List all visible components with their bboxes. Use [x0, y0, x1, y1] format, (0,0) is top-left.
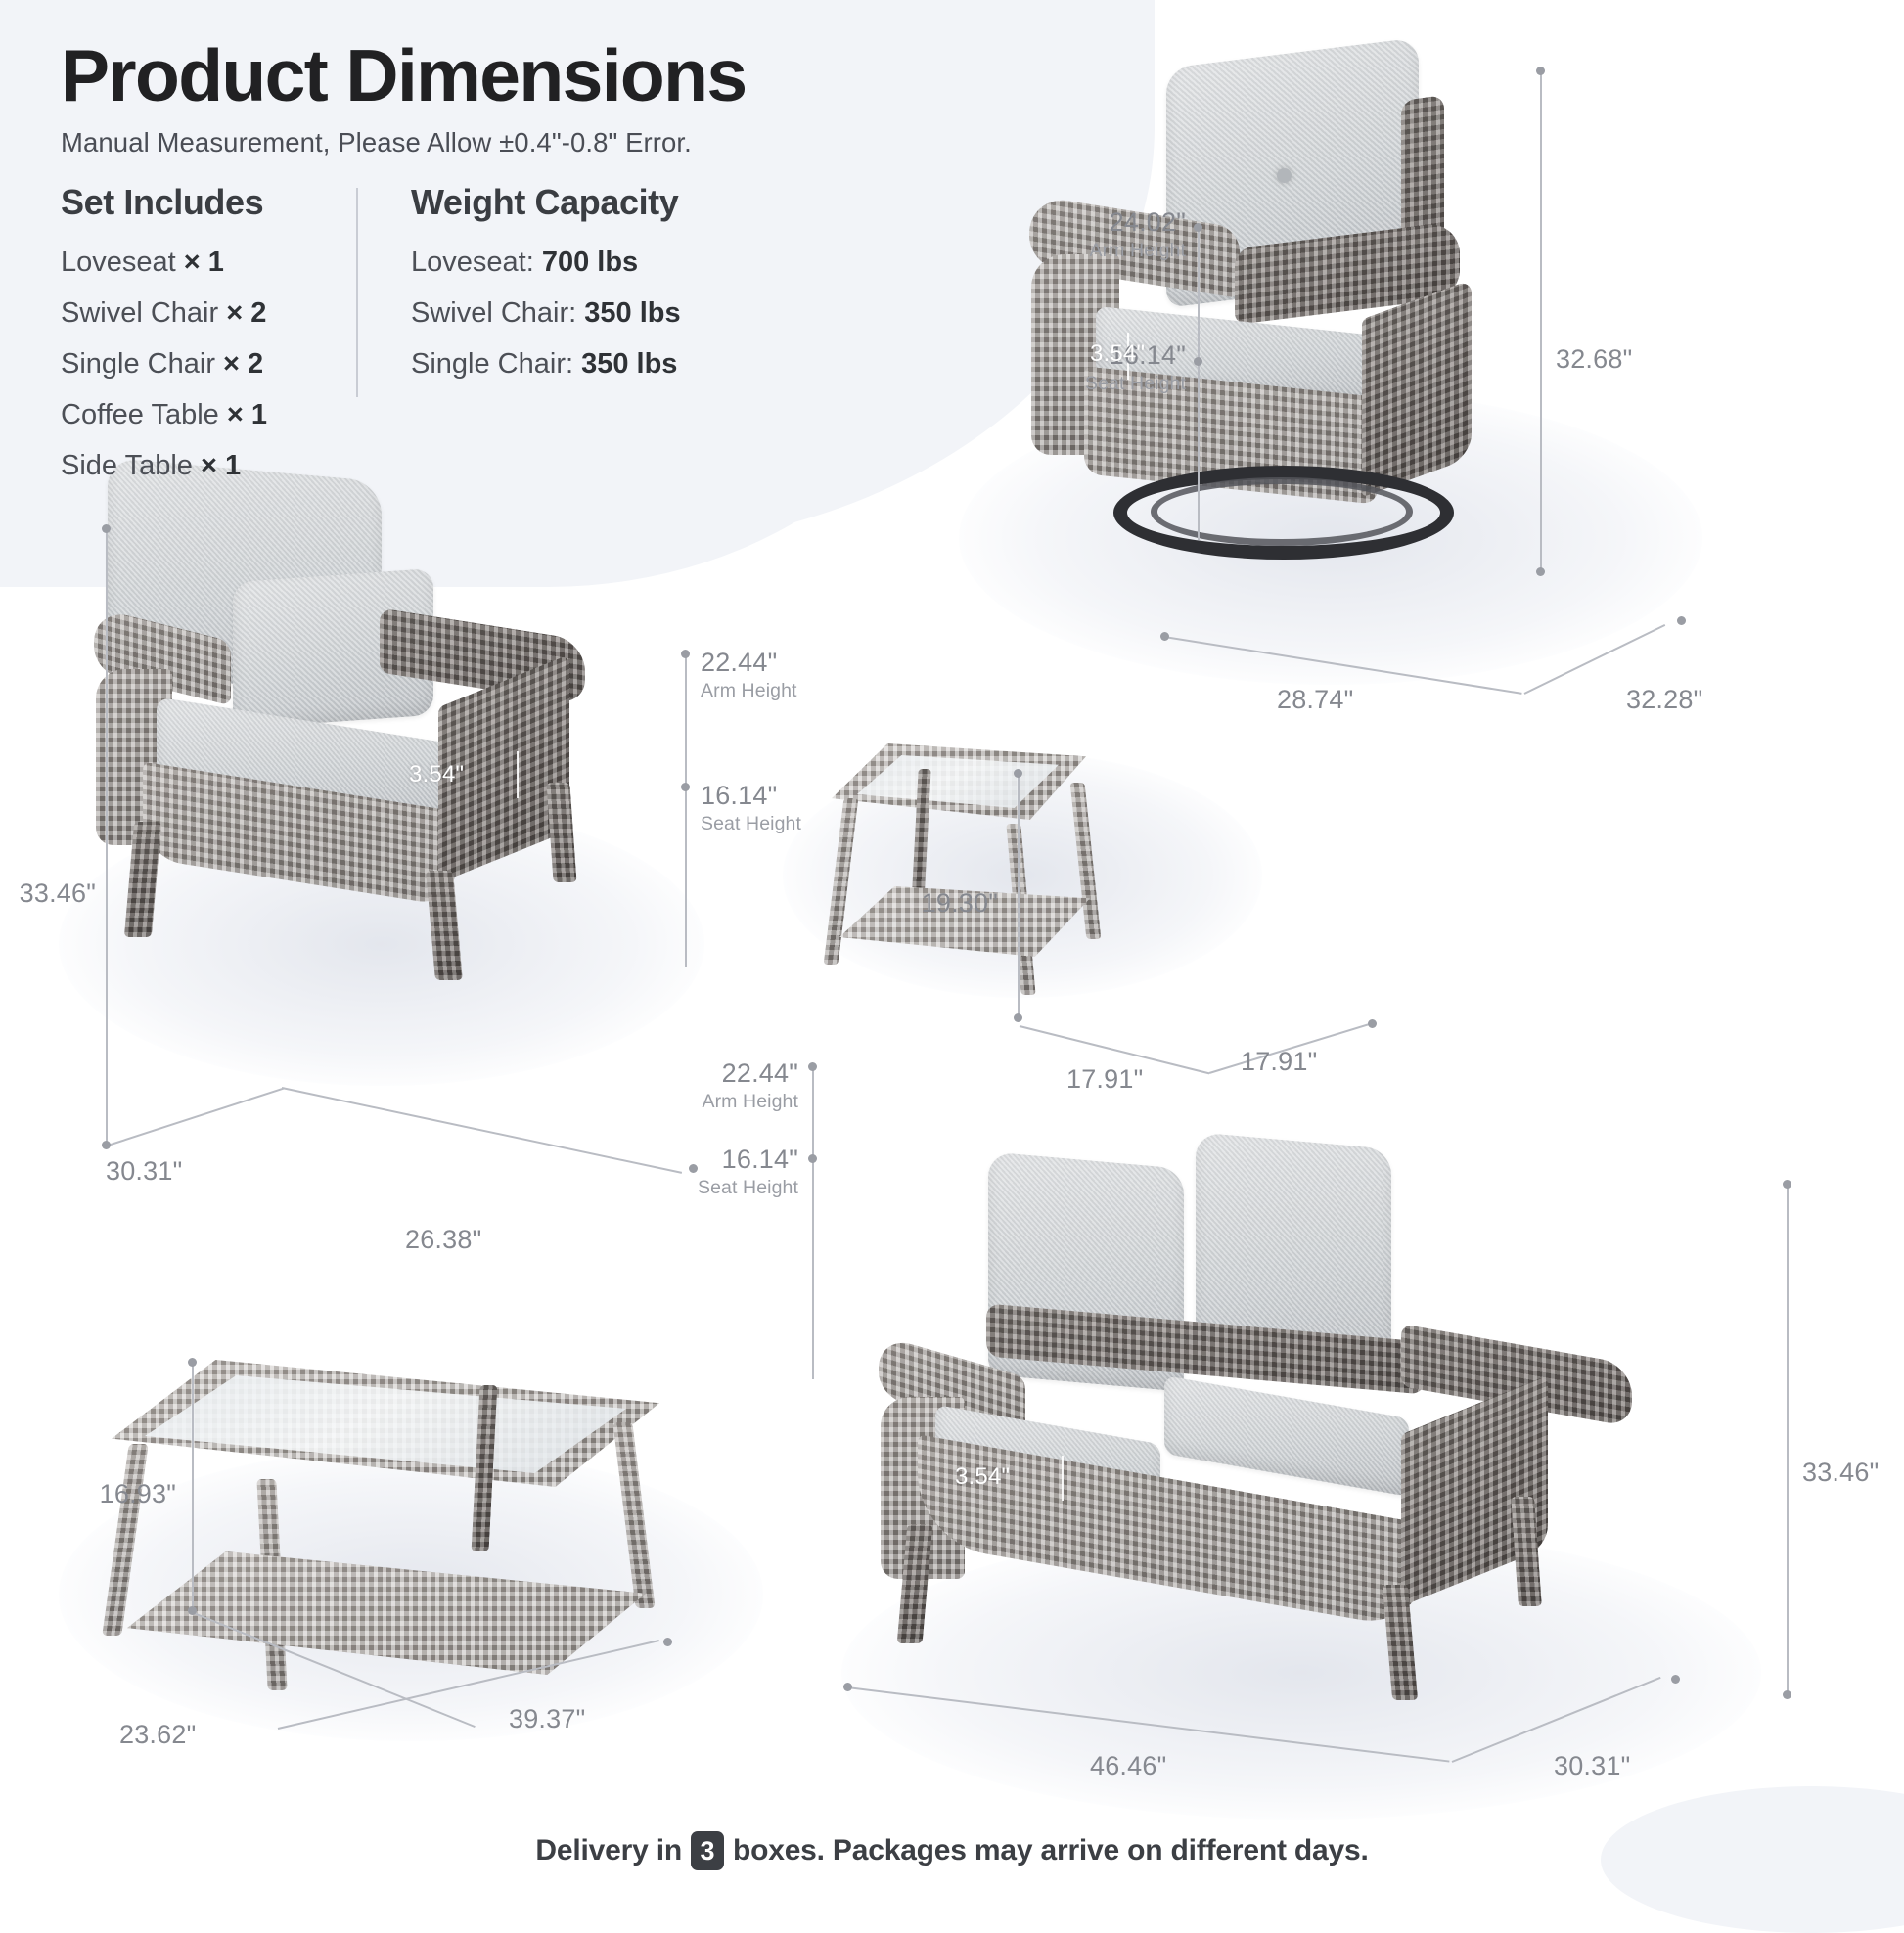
- loveseat-illustration: [978, 1135, 1702, 1741]
- box-count-badge: 3: [691, 1831, 724, 1870]
- swivel-chair-height-dot-bottom: [1536, 567, 1545, 576]
- coffee-table-leg-left: [102, 1444, 149, 1636]
- swivel-chair-depth-label: 32.28": [1626, 685, 1702, 715]
- loveseat-arm-height-label: 22.44" Arm Height: [587, 1058, 798, 1113]
- loveseat-arm-height-value: 22.44": [722, 1058, 798, 1088]
- coffee-table-height-line: [192, 1362, 194, 1610]
- swivel-chair-base-ring-inner: [1151, 477, 1413, 546]
- coffee-table-lower-shelf: [127, 1551, 646, 1675]
- loveseat-depth-dot: [1671, 1675, 1680, 1684]
- swivel-chair-arm-height-value: 24.02": [1110, 207, 1186, 237]
- side-table-depth-dot: [1368, 1019, 1377, 1028]
- swivel-chair-seat-height-sublabel: Seat Height: [861, 373, 1186, 395]
- weight-item-value: 700 lbs: [542, 247, 638, 278]
- loveseat-height-line: [1787, 1184, 1789, 1694]
- swivel-chair-height-line: [1540, 70, 1542, 571]
- coffee-table-height-dot-bottom: [188, 1606, 197, 1615]
- loveseat-arm-height-dot: [808, 1062, 817, 1071]
- single-chair-arm-height-line: [685, 653, 687, 966]
- coffee-table-glass-top: [145, 1375, 626, 1473]
- swivel-chair-overall-height-label: 32.68": [1556, 344, 1632, 375]
- set-includes-item: Side Table × 1: [61, 452, 356, 480]
- single-chair-height-dot-bottom: [102, 1141, 111, 1149]
- single-chair-cushion-thickness-label: 3.54": [409, 761, 464, 788]
- side-table-width-label: 17.91": [1066, 1064, 1143, 1095]
- set-item-name: Swivel Chair: [61, 297, 218, 329]
- loveseat-arm-height-sublabel: Arm Height: [587, 1091, 798, 1113]
- set-item-name: Single Chair: [61, 348, 215, 380]
- swivel-chair-depth-dot: [1677, 616, 1686, 625]
- side-table-leg-left: [824, 798, 859, 965]
- loveseat-width-dot-left: [843, 1683, 852, 1691]
- coffee-table-depth-label: 23.62": [119, 1720, 196, 1750]
- swivel-chair-side-apron: [1362, 280, 1472, 498]
- single-chair-cushion-thickness-line: [517, 751, 519, 798]
- loveseat-seat-cushion-right: [1164, 1375, 1409, 1497]
- side-table-height-label: 19.30": [861, 888, 998, 919]
- single-chair-front-right-leg: [426, 871, 463, 980]
- single-chair-depth-label: 30.31": [106, 1156, 182, 1187]
- single-chair-height-dot-top: [102, 524, 111, 533]
- weight-item-name: Single Chair:: [411, 348, 573, 380]
- swivel-chair-arm-height-sublabel: Arm Height: [861, 240, 1186, 262]
- weight-capacity-item: Single Chair: 350 lbs: [411, 350, 681, 379]
- footer-text-after: boxes. Packages may arrive on different …: [733, 1834, 1369, 1867]
- swivel-chair-cushion-thickness-label: 3.54": [1090, 340, 1145, 368]
- set-item-name: Coffee Table: [61, 399, 219, 430]
- set-includes-item: Loveseat × 1: [61, 248, 356, 277]
- set-item-name: Loveseat: [61, 247, 176, 278]
- info-columns: Set Includes Loveseat × 1 Swivel Chair ×…: [61, 182, 681, 503]
- single-chair-seat-height-sublabel: Seat Height: [701, 813, 801, 835]
- set-includes-item: Swivel Chair × 2: [61, 299, 356, 328]
- loveseat-seat-height-sublabel: Seat Height: [587, 1177, 798, 1199]
- swivel-chair-seat-height-dot: [1194, 357, 1202, 366]
- swivel-chair-arm-height-dot: [1194, 223, 1202, 232]
- loveseat-cushion-thickness-line: [1062, 1456, 1064, 1501]
- side-table-height-dot-top: [1014, 769, 1022, 778]
- swivel-chair-back-tuft-button: [1277, 168, 1292, 183]
- loveseat-height-dot-top: [1783, 1180, 1791, 1189]
- loveseat-overall-height-label: 33.46": [1802, 1458, 1879, 1488]
- single-chair-arm-height-label: 22.44" Arm Height: [701, 648, 797, 702]
- loveseat-cushion-thickness-label: 3.54": [955, 1463, 1010, 1491]
- coffee-table-leg-right: [612, 1422, 655, 1608]
- side-table-height-line: [1018, 773, 1020, 1017]
- single-chair-seat-height-label: 16.14" Seat Height: [701, 781, 801, 835]
- set-item-qty: × 1: [184, 247, 224, 278]
- single-chair-illustration: [86, 460, 605, 978]
- swivel-chair-width-dot: [1160, 632, 1169, 641]
- loveseat-width-label: 46.46": [1090, 1751, 1166, 1781]
- single-chair-arm-height-sublabel: Arm Height: [701, 680, 797, 702]
- side-table-depth-label: 17.91": [1241, 1047, 1317, 1077]
- weight-capacity-heading: Weight Capacity: [411, 182, 681, 223]
- coffee-table-width-dot-right: [663, 1638, 672, 1646]
- coffee-table-height-label: 16.93": [23, 1479, 176, 1509]
- loveseat-depth-label: 30.31": [1554, 1751, 1630, 1781]
- single-chair-overall-height-label: 33.46": [0, 878, 96, 909]
- set-item-qty: × 1: [201, 450, 241, 481]
- set-item-name: Side Table: [61, 450, 193, 481]
- set-includes-column: Set Includes Loveseat × 1 Swivel Chair ×…: [61, 182, 356, 503]
- swivel-chair-arm-height-line: [1198, 227, 1200, 540]
- single-chair-seat-height-value: 16.14": [701, 781, 777, 810]
- page-title: Product Dimensions: [61, 37, 1039, 114]
- coffee-table-height-dot-top: [188, 1358, 197, 1367]
- loveseat-height-dot-bottom: [1783, 1690, 1791, 1699]
- set-item-qty: × 1: [227, 399, 267, 430]
- swivel-chair-height-dot-top: [1536, 67, 1545, 75]
- loveseat-seat-height-label: 16.14" Seat Height: [587, 1145, 798, 1199]
- weight-capacity-item: Swivel Chair: 350 lbs: [411, 299, 681, 328]
- side-table-height-dot-bottom: [1014, 1013, 1022, 1022]
- set-includes-item: Single Chair × 2: [61, 350, 356, 379]
- loveseat-arm-height-line: [812, 1066, 814, 1379]
- footer-text-before: Delivery in: [535, 1834, 682, 1867]
- page-subtitle: Manual Measurement, Please Allow ±0.4"-0…: [61, 127, 1039, 158]
- single-chair-height-line: [106, 528, 108, 1145]
- single-chair-depth-line: [108, 1087, 285, 1146]
- header: Product Dimensions Manual Measurement, P…: [61, 37, 1039, 158]
- single-chair-seat-height-dot: [681, 783, 690, 791]
- weight-item-name: Loveseat:: [411, 247, 534, 278]
- weight-capacity-column: Weight Capacity Loveseat: 700 lbs Swivel…: [358, 182, 681, 401]
- coffee-table-width-label: 39.37": [509, 1704, 585, 1734]
- footer: Delivery in 3 boxes. Packages may arrive…: [0, 1831, 1904, 1870]
- single-chair-arm-height-dot: [681, 650, 690, 658]
- weight-item-value: 350 lbs: [581, 348, 677, 380]
- loveseat-seat-height-dot: [808, 1154, 817, 1163]
- side-table-leg-right: [1070, 783, 1102, 939]
- set-item-qty: × 2: [226, 297, 266, 329]
- swivel-chair-width-label: 28.74": [1277, 685, 1353, 715]
- coffee-table-illustration: [98, 1350, 744, 1722]
- loveseat-seat-height-value: 16.14": [722, 1145, 798, 1174]
- single-chair-back-right-leg: [546, 783, 576, 882]
- set-item-qty: × 2: [223, 348, 263, 380]
- weight-capacity-item: Loveseat: 700 lbs: [411, 248, 681, 277]
- single-chair-arm-height-value: 22.44": [701, 648, 777, 677]
- weight-item-name: Swivel Chair:: [411, 297, 576, 329]
- set-includes-item: Coffee Table × 1: [61, 401, 356, 429]
- single-chair-width-label: 26.38": [405, 1225, 481, 1255]
- set-includes-heading: Set Includes: [61, 182, 356, 223]
- weight-item-value: 350 lbs: [584, 297, 680, 329]
- swivel-chair-arm-height-label: 24.02" Arm Height: [861, 207, 1186, 262]
